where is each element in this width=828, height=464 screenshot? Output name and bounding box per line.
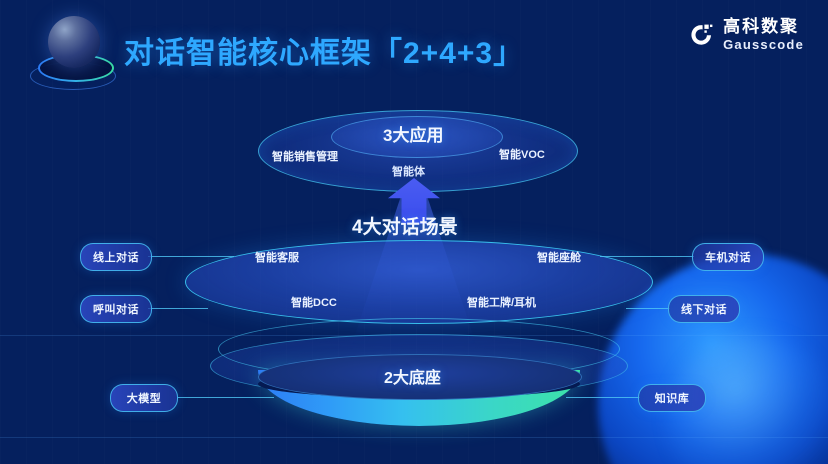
pill-knowledge-base[interactable]: 知识库 [638,384,706,412]
scenario-label-badge-headset: 智能工牌/耳机 [467,294,536,310]
slide-canvas: 对话智能核心框架「2+4+3」 高科数聚 Gausscode 3大应用 智能销售… [0,0,828,464]
scenario-label-dcc: 智能DCC [291,294,337,310]
connector-line-llm [178,397,274,398]
connector-line-kb [566,397,640,398]
applications-title: 3大应用 [383,121,443,146]
brand-name-en: Gausscode [723,38,804,51]
pill-offline-dialogue[interactable]: 线下对话 [668,295,740,323]
pill-invehicle-dialogue[interactable]: 车机对话 [692,243,764,271]
scenario-label-customer-service: 智能客服 [255,249,299,265]
brand-name-cn: 高科数聚 [723,18,804,35]
application-label-sales: 智能销售管理 [272,148,338,164]
sphere-ball-icon [48,16,100,68]
pill-call-dialogue[interactable]: 呼叫对话 [80,295,152,323]
application-label-voc: 智能VOC [499,146,545,162]
page-title: 对话智能核心框架「2+4+3」 [124,28,524,72]
gausscode-g-mark-icon [689,22,715,48]
base-title: 2大底座 [384,364,441,388]
agent-label: 智能体 [392,163,425,179]
pill-online-dialogue[interactable]: 线上对话 [80,243,152,271]
scenario-label-cockpit: 智能座舱 [537,249,581,265]
connector-line-invehicle [600,256,694,257]
pill-large-model[interactable]: 大模型 [110,384,178,412]
scenarios-title: 4大对话场景 [352,212,458,239]
brand-logo: 高科数聚 Gausscode [689,18,804,51]
sphere-on-ring-icon [30,16,114,96]
connector-line-call [148,308,208,309]
slide-header: 对话智能核心框架「2+4+3」 高科数聚 Gausscode [0,0,828,100]
framework-diagram: 3大应用 智能销售管理 智能VOC 智能体 4大对话场景 智能客服 智能座舱 智… [0,96,828,464]
connector-line-offline [626,308,670,309]
connector-line-online [148,256,234,257]
